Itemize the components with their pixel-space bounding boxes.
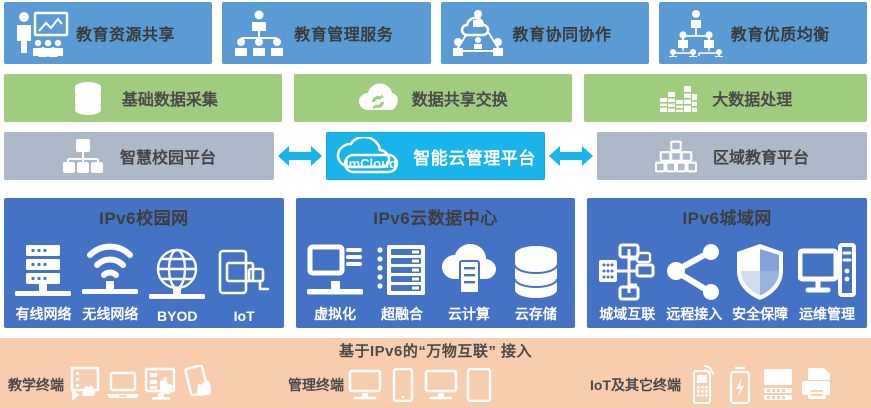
net-item-label: 无线网络 (82, 304, 138, 324)
net-item-wired[interactable]: 有线网络 (15, 241, 71, 324)
cloud-storage-disk-icon (508, 241, 564, 303)
iot-device-icon (216, 245, 272, 307)
net-item-label: BYOD (157, 308, 197, 324)
platform-card-imcloud[interactable]: ImCloud 智能云管理平台 (326, 132, 545, 180)
net-panel-title: IPv6校园网 (99, 204, 188, 229)
terminal-group-iot: IoT及其它终端 (590, 364, 833, 406)
share-nodes-icon (666, 241, 722, 303)
tablet-pen-icon[interactable] (182, 364, 216, 406)
feature-phone-icon[interactable] (685, 364, 719, 406)
terminal-group-label: 管理终端 (288, 375, 344, 395)
education-services-row: 教育资源共享 教育管理服务 (0, 2, 871, 64)
printer-icon[interactable] (799, 364, 833, 406)
net-item-cloud-storage[interactable]: 云存储 (508, 241, 564, 324)
net-item-ops-management[interactable]: 运维管理 (798, 241, 856, 324)
net-item-metro-interconnect[interactable]: 城域互联 (598, 241, 656, 324)
double-arrow-left-icon (274, 143, 326, 169)
data-layer-row: 基础数据采集 数据共享交换 (0, 74, 871, 122)
cloud-sync-icon (358, 81, 398, 115)
service-card-label: 教育协同协作 (513, 21, 612, 45)
smartphone-icon[interactable] (386, 364, 420, 406)
net-panel-campus[interactable]: IPv6校园网 (4, 198, 284, 328)
platform-card-label: 智慧校园平台 (120, 144, 216, 168)
net-panel-datacenter[interactable]: IPv6云数据中心 虚拟化 (296, 198, 576, 328)
data-card-label: 大数据处理 (712, 86, 792, 110)
region-blocks-icon (655, 138, 697, 174)
service-card-resource-sharing[interactable]: 教育资源共享 (4, 2, 212, 64)
platform-layer-row: 智慧校园平台 ImCloud 智能云管理平台 (0, 132, 871, 180)
cloud-compute-icon (441, 241, 497, 303)
globe-icon (149, 245, 205, 307)
platform-card-region-education[interactable]: 区域教育平台 (597, 132, 867, 180)
bigdata-bars-icon (658, 81, 698, 115)
net-item-remote-access[interactable]: 远程接入 (666, 241, 722, 324)
server-stack-icon[interactable] (761, 364, 795, 406)
imcloud-logo-icon: ImCloud (335, 136, 409, 176)
tablet-icon[interactable] (462, 364, 496, 406)
net-panel-title: IPv6云数据中心 (373, 204, 497, 229)
data-card-label: 基础数据采集 (122, 86, 218, 110)
data-card-bigdata-processing[interactable]: 大数据处理 (584, 74, 867, 122)
ipv6-networks-row: IPv6校园网 (0, 198, 871, 328)
terminal-group-management: 管理终端 (288, 364, 496, 406)
interactive-whiteboard-icon[interactable] (68, 364, 102, 406)
service-card-label: 教育资源共享 (76, 21, 175, 45)
hyperconverged-rack-icon (374, 241, 430, 303)
net-item-label: 城域互联 (599, 304, 655, 324)
terminal-group-teaching: 教学终端 (8, 364, 216, 406)
ops-monitor-icon (798, 241, 856, 303)
terminal-group-label: IoT及其它终端 (590, 375, 681, 395)
terminal-group-icons (348, 364, 496, 406)
desktop-monitor-icon[interactable] (424, 364, 458, 406)
net-item-label: 云存储 (515, 304, 557, 324)
net-panel-items: 虚拟化 (296, 231, 576, 328)
net-item-byod[interactable]: BYOD (149, 245, 205, 324)
server-rack-icon (15, 241, 71, 303)
net-item-label: 远程接入 (666, 304, 722, 324)
service-card-label: 教育管理服务 (294, 21, 393, 45)
net-item-label: IoT (234, 308, 255, 324)
touch-monitor-icon[interactable] (144, 364, 178, 406)
net-panel-metro[interactable]: IPv6城域网 (587, 198, 867, 328)
cloud-collaboration-icon (449, 8, 507, 58)
net-item-label: 云计算 (448, 304, 490, 324)
platform-card-label: 区域教育平台 (713, 144, 809, 168)
net-item-wireless[interactable]: 无线网络 (82, 241, 138, 324)
net-item-label: 超融合 (381, 304, 423, 324)
net-item-iot[interactable]: IoT (216, 245, 272, 324)
platform-card-label: 智能云管理平台 (413, 144, 536, 169)
net-panel-items: 有线网络 无线网络 (4, 231, 284, 328)
data-card-label: 数据共享交换 (412, 86, 508, 110)
metro-topology-icon (598, 241, 656, 303)
desktop-monitor-icon[interactable] (348, 364, 382, 406)
monitor-icon (307, 241, 363, 303)
service-card-management-service[interactable]: 教育管理服务 (222, 2, 430, 64)
net-item-label: 安全保障 (732, 304, 788, 324)
net-item-virtualization[interactable]: 虚拟化 (307, 241, 363, 324)
net-panel-items: 城域互联 远程接入 (587, 231, 867, 328)
net-item-label: 有线网络 (15, 304, 71, 324)
service-card-collaboration[interactable]: 教育协同协作 (441, 2, 649, 64)
data-card-collection[interactable]: 基础数据采集 (4, 74, 282, 122)
power-device-icon[interactable] (723, 364, 757, 406)
net-item-hyperconverged[interactable]: 超融合 (374, 241, 430, 324)
org-chart-people-icon (230, 8, 288, 58)
data-card-sharing-exchange[interactable]: 数据共享交换 (294, 74, 572, 122)
terminal-group-label: 教学终端 (8, 375, 64, 395)
net-item-label: 运维管理 (799, 304, 855, 324)
wifi-icon (82, 241, 138, 303)
net-item-label: 虚拟化 (314, 304, 356, 324)
teacher-presentation-icon (12, 8, 70, 58)
terminal-group-icons (68, 364, 216, 406)
net-item-security[interactable]: 安全保障 (732, 241, 788, 324)
shield-icon (735, 241, 785, 303)
svg-text:ImCloud: ImCloud (345, 156, 397, 171)
net-item-cloud-computing[interactable]: 云计算 (441, 241, 497, 324)
terminals-band: 基于IPv6的“万物互联” 接入 教学终端 (0, 338, 871, 408)
service-card-label: 教育优质均衡 (731, 21, 830, 45)
terminal-groups: 教学终端 (0, 362, 871, 408)
platform-card-smart-campus[interactable]: 智慧校园平台 (4, 132, 274, 180)
database-icon (68, 81, 108, 115)
architecture-diagram: 教育资源共享 教育管理服务 (0, 0, 871, 408)
campus-tree-icon (62, 138, 104, 174)
people-network-icon (667, 8, 725, 58)
terminals-caption: 基于IPv6的“万物互联” 接入 (0, 340, 871, 361)
terminal-group-icons (685, 364, 833, 406)
service-card-quality-balance[interactable]: 教育优质均衡 (659, 2, 867, 64)
laptop-icon[interactable] (106, 364, 140, 406)
net-panel-title: IPv6城域网 (682, 204, 771, 229)
double-arrow-right-icon (545, 143, 597, 169)
